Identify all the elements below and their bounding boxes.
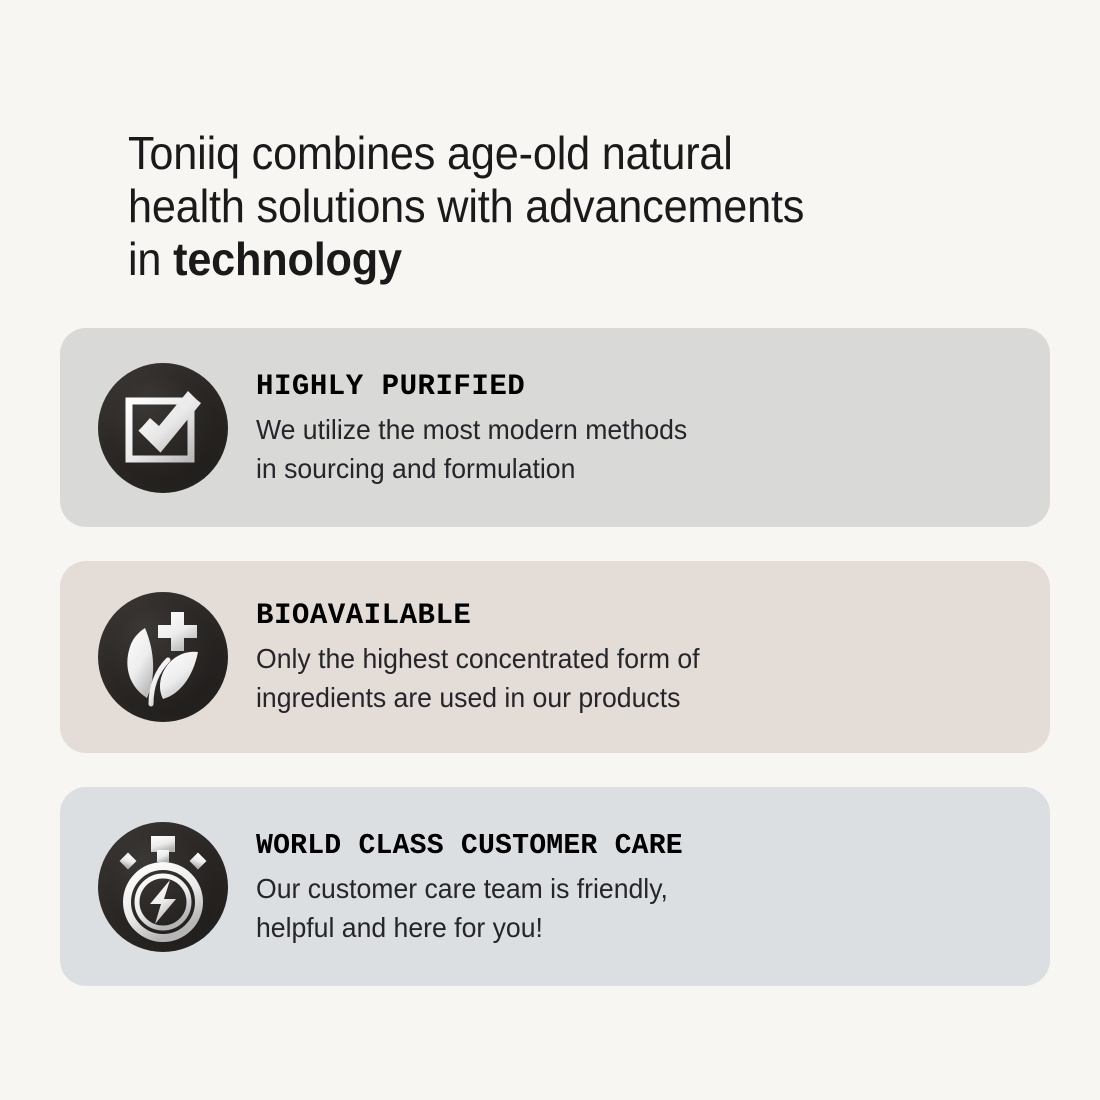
card-text-block: WORLD CLASS CUSTOMER CARE Our customer c…: [256, 827, 1020, 947]
headline-line-2: health solutions with advancements: [128, 180, 804, 232]
feature-description: Only the highest concentrated form of in…: [256, 639, 982, 717]
checkbox-check-icon: [98, 363, 228, 493]
feature-card-bioavailable: BIOAVAILABLE Only the highest concentrat…: [60, 561, 1050, 753]
stopwatch-bolt-icon: [98, 822, 228, 952]
feature-title: WORLD CLASS CUSTOMER CARE: [256, 829, 997, 863]
icon-wrapper: [98, 363, 228, 493]
promo-panel: Toniiq combines age-old natural health s…: [0, 0, 1100, 1100]
card-text-block: HIGHLY PURIFIED We utilize the most mode…: [256, 368, 1020, 488]
icon-wrapper: [98, 822, 228, 952]
headline-line-1: Toniiq combines age-old natural: [128, 127, 733, 179]
feature-card-highly-purified: HIGHLY PURIFIED We utilize the most mode…: [60, 328, 1050, 527]
feature-title: BIOAVAILABLE: [256, 599, 997, 633]
headline-emphasis: technology: [173, 233, 402, 285]
feature-description: Our customer care team is friendly, help…: [256, 869, 982, 947]
feature-title: HIGHLY PURIFIED: [256, 370, 997, 404]
icon-wrapper: [98, 592, 228, 722]
leaf-plus-icon: [98, 592, 228, 722]
card-text-block: BIOAVAILABLE Only the highest concentrat…: [256, 597, 1020, 717]
feature-card-list: HIGHLY PURIFIED We utilize the most mode…: [60, 328, 1050, 986]
page-title: Toniiq combines age-old natural health s…: [128, 127, 880, 286]
feature-card-world-class-customer-care: WORLD CLASS CUSTOMER CARE Our customer c…: [60, 787, 1050, 986]
feature-description: We utilize the most modern methods in so…: [256, 410, 982, 488]
headline-line-3-prefix: in: [128, 233, 173, 285]
